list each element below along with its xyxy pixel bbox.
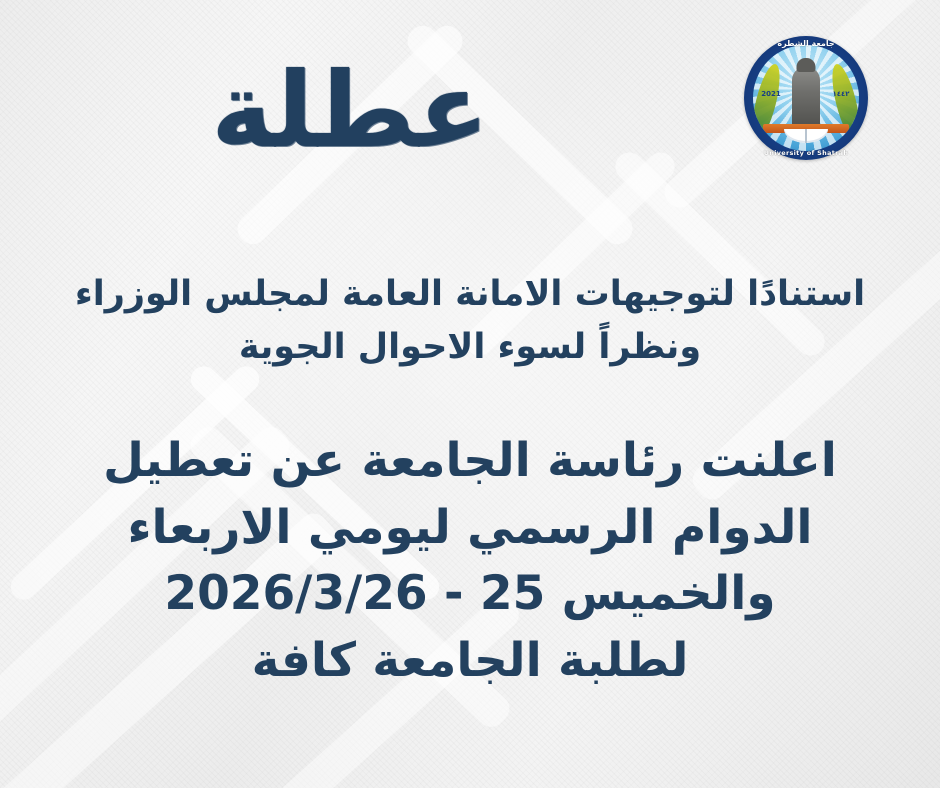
intro-line-2: ونظراً لسوء الاحوال الجوية — [22, 321, 918, 374]
announcement-paragraph: اعلنت رئاسة الجامعة عن تعطيل الدوام الرس… — [0, 428, 940, 695]
page-title: عطلة — [0, 58, 700, 162]
university-logo: جامعة الشطرة University of Shatrah 2021 … — [744, 36, 868, 160]
logo-year-gregorian: 2021 — [758, 90, 784, 98]
logo-statue-head — [797, 58, 816, 72]
logo-arabic-name: جامعة الشطرة — [744, 39, 868, 48]
logo-inner-disc — [753, 45, 859, 151]
logo-year-hijri: ١٤٤٢ — [828, 90, 854, 98]
logo-english-name: University of Shatrah — [744, 149, 868, 157]
logo-statue-icon — [792, 67, 820, 129]
intro-paragraph: استنادًا لتوجيهات الامانة العامة لمجلس ا… — [0, 268, 940, 373]
intro-line-1: استنادًا لتوجيهات الامانة العامة لمجلس ا… — [22, 268, 918, 321]
announcement-line-3: والخميس 25 - 2026/3/26 — [70, 561, 870, 628]
announcement-line-1: اعلنت رئاسة الجامعة عن تعطيل — [70, 428, 870, 495]
poster-content: جامعة الشطرة University of Shatrah 2021 … — [0, 0, 940, 788]
announcement-poster: جامعة الشطرة University of Shatrah 2021 … — [0, 0, 940, 788]
announcement-line-2: الدوام الرسمي ليومي الاربعاء — [70, 495, 870, 562]
announcement-line-4: لطلبة الجامعة كافة — [70, 628, 870, 695]
